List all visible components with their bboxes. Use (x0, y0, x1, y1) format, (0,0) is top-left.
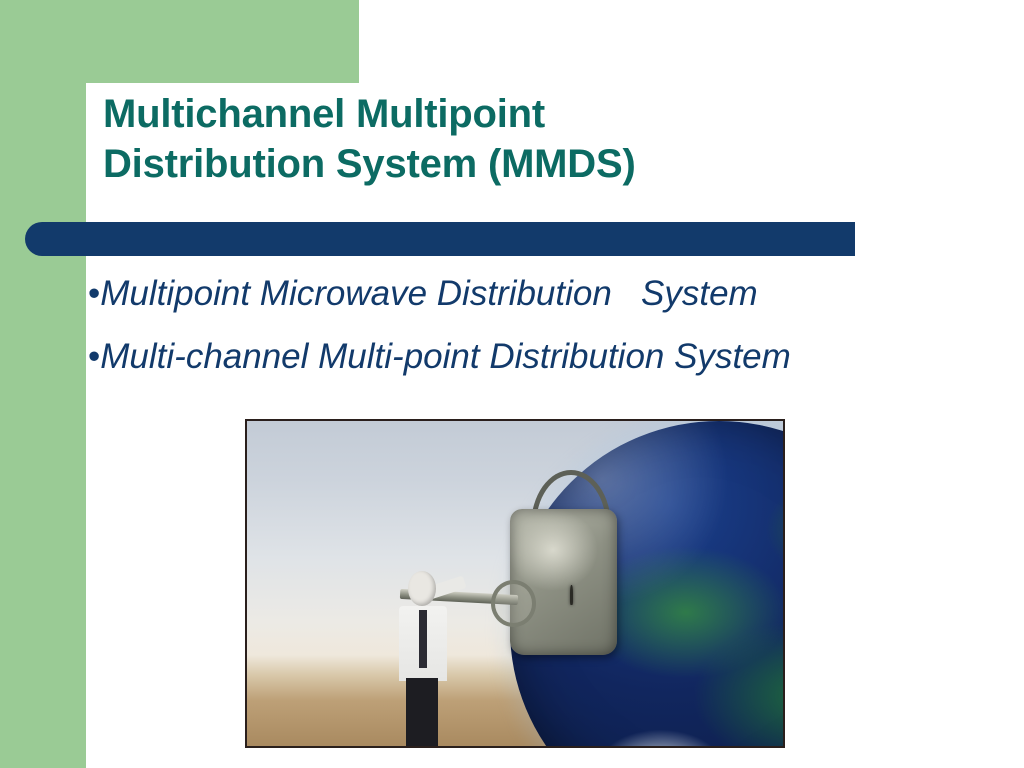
list-item: • Multipoint Microwave Distribution Syst… (88, 276, 1018, 311)
globe-padlock-key-photo: Photograph of a businessman holding a la… (245, 419, 785, 748)
page-title: Multichannel Multipoint Distribution Sys… (103, 90, 933, 189)
businessman-head (408, 571, 436, 607)
slide-canvas: Multichannel Multipoint Distribution Sys… (0, 0, 1024, 768)
list-item-label: Multipoint Microwave Distribution System (100, 276, 757, 311)
title-accent-bar (25, 222, 855, 256)
businessman-legs (406, 678, 438, 746)
bullet-list: • Multipoint Microwave Distribution Syst… (88, 276, 1018, 402)
businessman-tie (419, 610, 427, 669)
green-header-block (0, 0, 359, 83)
list-item-label: Multi-channel Multi-point Distribution S… (100, 339, 791, 374)
keyhole-icon (570, 585, 573, 605)
bullet-marker-icon: • (88, 276, 100, 311)
bullet-marker-icon: • (88, 339, 100, 374)
list-item: • Multi-channel Multi-point Distribution… (88, 339, 1018, 374)
padlock-icon (510, 509, 617, 655)
green-sidebar-band (0, 0, 86, 768)
